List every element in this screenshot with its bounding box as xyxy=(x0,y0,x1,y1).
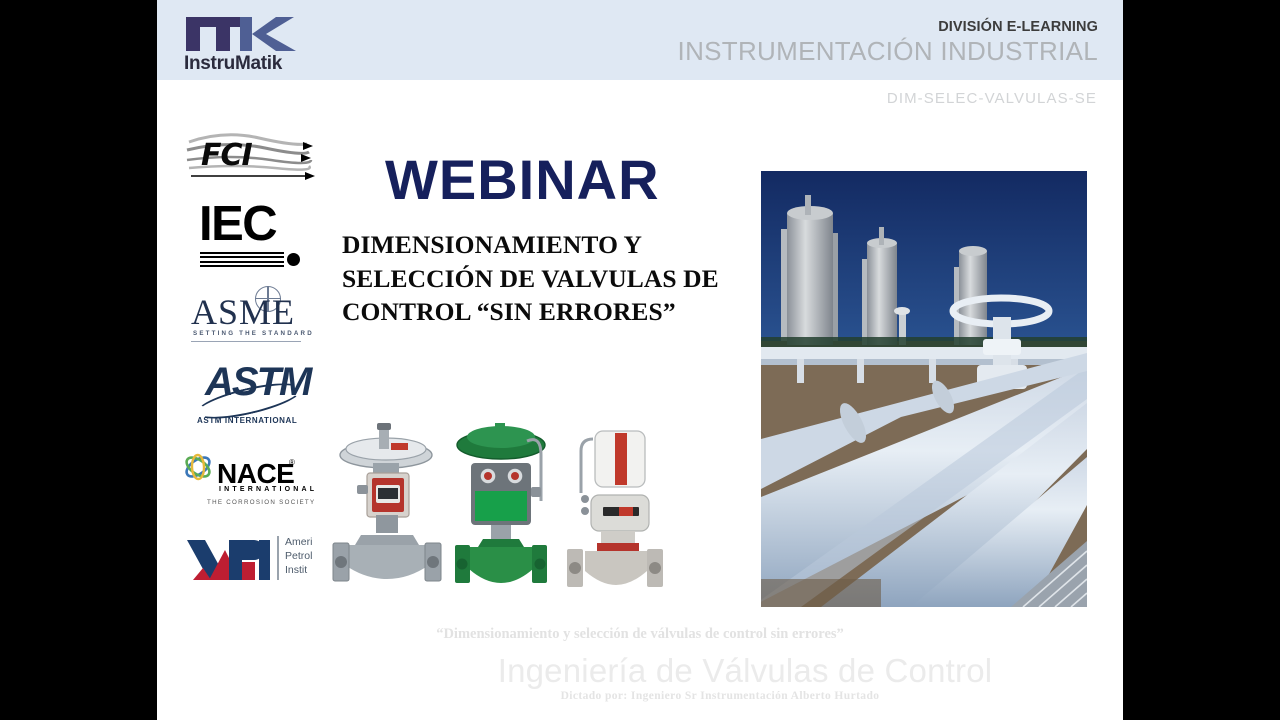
footer-quote: “Dimensionamiento y selección de válvula… xyxy=(157,626,1123,643)
nace-tagline: THE CORROSION SOCIETY xyxy=(207,499,315,506)
nace-subtitle: INTERNATIONAL xyxy=(219,486,317,493)
course-code: DIM-SELEC-VALVULAS-SE xyxy=(887,90,1097,107)
standard-logo-api: AmeriPetrolInstit xyxy=(179,530,319,590)
fci-wordmark: FCI xyxy=(201,138,252,173)
api-tagline: AmeriPetrolInstit xyxy=(285,536,312,578)
asme-rule xyxy=(191,341,301,342)
green-control-valve-icon xyxy=(447,415,555,600)
page-subtitle: DIMENSIONAMIENTO Y SELECCIÓN DE VALVULAS… xyxy=(342,228,772,329)
standards-logo-column: FCI IEC ASME SETTING THE STANDARD ASTM A… xyxy=(179,128,319,604)
footer-headline: Ingeniería de Válvulas de Control xyxy=(157,652,1123,690)
header-course-identity: DIVISIÓN E-LEARNING INSTRUMENTACIÓN INDU… xyxy=(678,20,1098,67)
itk-wordmark: InstruMatik xyxy=(184,53,282,75)
division-label: DIVISIÓN E-LEARNING xyxy=(678,20,1098,36)
standard-logo-asme: ASME SETTING THE STANDARD xyxy=(179,286,319,348)
control-valve-images xyxy=(327,415,657,600)
slide-canvas: InstruMatik DIVISIÓN E-LEARNING INSTRUME… xyxy=(157,0,1123,720)
gas-plant-pipeline-illustration xyxy=(761,171,1087,607)
department-label: INSTRUMENTACIÓN INDUSTRIAL xyxy=(678,37,1098,67)
standard-logo-nace: NACE ® INTERNATIONAL THE CORROSION SOCIE… xyxy=(179,452,319,516)
nace-registered-icon: ® xyxy=(289,458,295,467)
api-divider xyxy=(277,536,279,580)
nace-wordmark: NACE xyxy=(217,460,294,488)
iec-wordmark: IEC xyxy=(199,200,276,249)
white-red-control-valve-icon xyxy=(559,415,667,600)
itk-logo: InstruMatik xyxy=(184,15,334,71)
standard-logo-fci: FCI xyxy=(179,128,319,186)
api-mark-icon xyxy=(185,534,271,582)
header-band: InstruMatik DIVISIÓN E-LEARNING INSTRUME… xyxy=(157,0,1123,80)
iec-underline-icon xyxy=(200,252,284,270)
itk-mark-icon xyxy=(184,15,334,55)
asme-tagline: SETTING THE STANDARD xyxy=(193,330,314,337)
footer-presenter: Dictado por: Ingeniero Sr Instrumentació… xyxy=(157,690,1123,702)
asme-wordmark: ASME xyxy=(191,294,295,330)
screen: InstruMatik DIVISIÓN E-LEARNING INSTRUME… xyxy=(0,0,1280,720)
astm-tagline: ASTM INTERNATIONAL xyxy=(197,416,297,425)
standard-logo-astm: ASTM ASTM INTERNATIONAL xyxy=(179,362,319,438)
nace-globe-icon xyxy=(181,452,215,482)
industrial-plant-photo xyxy=(761,171,1087,607)
iec-dot-icon xyxy=(287,253,300,266)
standard-logo-iec: IEC xyxy=(179,200,319,272)
page-title-webinar: WEBINAR xyxy=(385,152,660,208)
silver-control-valve-icon xyxy=(327,415,445,600)
